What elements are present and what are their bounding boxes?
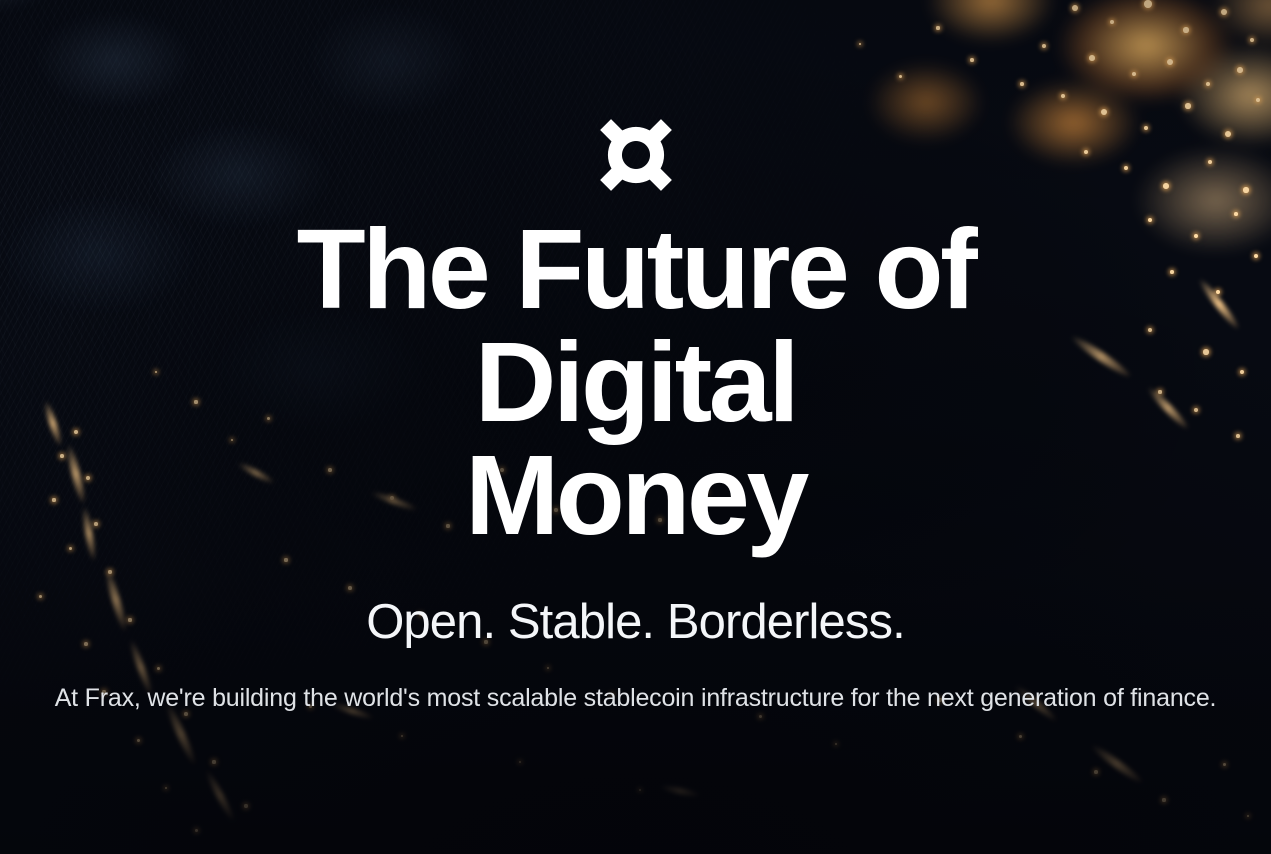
hero-description: At Frax, we're building the world's most… <box>53 680 1218 717</box>
frax-logo-icon <box>597 116 675 194</box>
hero-page: The Future of Digital Money Open. Stable… <box>0 0 1271 854</box>
headline-line-2: Money <box>131 439 1141 552</box>
hero-content: The Future of Digital Money Open. Stable… <box>0 0 1271 854</box>
page-title: The Future of Digital Money <box>61 213 1211 552</box>
hero-tagline: Open. Stable. Borderless. <box>366 594 905 650</box>
headline-line-1: The Future of Digital <box>131 213 1141 439</box>
